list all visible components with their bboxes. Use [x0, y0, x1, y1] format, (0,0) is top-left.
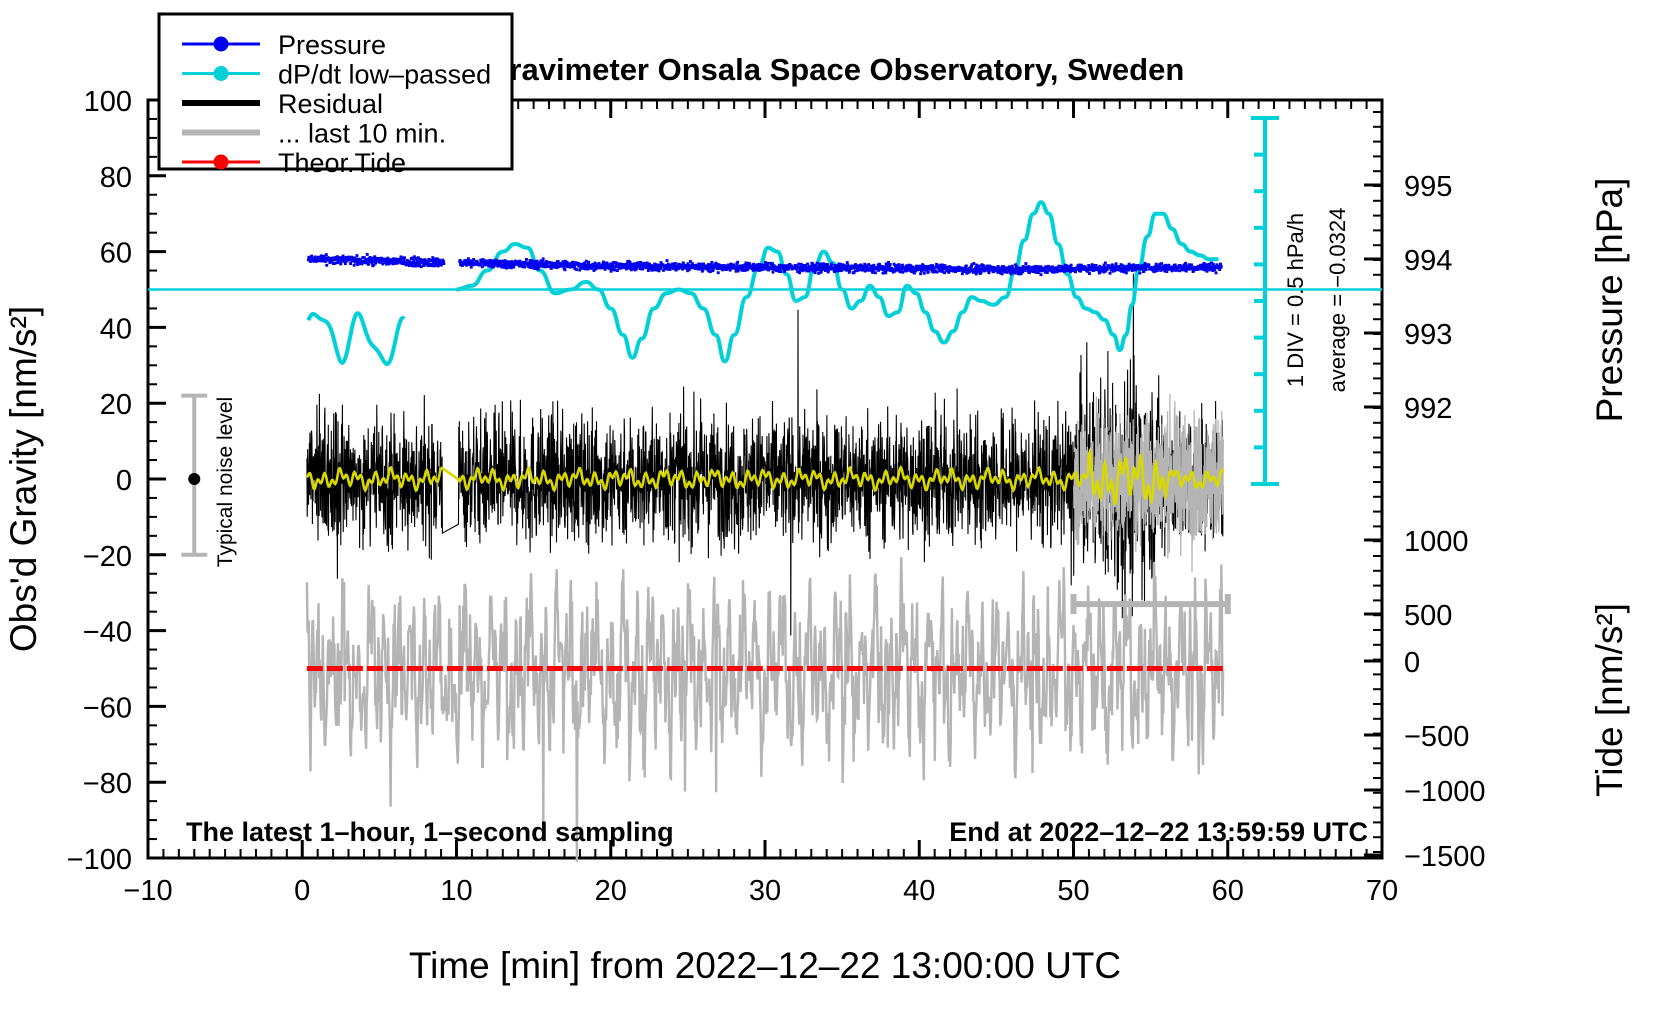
pressure-point	[523, 266, 526, 269]
pressure-point	[344, 262, 347, 265]
legend-marker-0	[214, 37, 229, 52]
pressure-point	[420, 265, 423, 268]
pressure-point	[830, 262, 833, 265]
pressure-point	[542, 257, 545, 260]
pressure-point	[884, 271, 887, 274]
y-axis-title-pressure: Pressure [hPa]	[1589, 178, 1630, 423]
pressure-point	[972, 262, 975, 265]
legend: PressuredP/dt low–passedResidual... last…	[159, 14, 512, 178]
tide-tick-label: 500	[1404, 600, 1452, 632]
pressure-point	[1001, 272, 1004, 275]
y-tick-label: −40	[83, 617, 132, 649]
pressure-point	[1220, 265, 1223, 268]
pressure-point	[736, 261, 739, 264]
legend-label-4: Theor.Tide	[278, 148, 406, 178]
x-tick-label: 60	[1212, 875, 1244, 907]
y-tick-label: 60	[100, 238, 132, 270]
pressure-point	[1095, 264, 1098, 267]
pressure-point	[1206, 270, 1209, 273]
y-tick-label: 0	[116, 465, 132, 497]
x-tick-label: 20	[595, 875, 627, 907]
pressure-tick-label: 992	[1404, 393, 1452, 425]
pressure-tick-label: 993	[1404, 319, 1452, 351]
pressure-point	[340, 262, 343, 265]
pressure-point	[965, 265, 968, 268]
pressure-point	[472, 258, 475, 261]
pressure-point	[1138, 272, 1141, 275]
pressure-point	[525, 258, 528, 261]
x-axis-title: Time [min] from 2022–12–22 13:00:00 UTC	[409, 945, 1121, 986]
pressure-tick-label: 995	[1404, 171, 1452, 203]
pressure-point	[1040, 273, 1043, 276]
pressure-point	[325, 253, 328, 256]
pressure-point	[1011, 265, 1014, 268]
pressure-point	[901, 264, 904, 267]
pressure-point	[356, 254, 359, 257]
pressure-point	[353, 264, 356, 267]
x-tick-label: −10	[123, 875, 172, 907]
pressure-point	[537, 268, 540, 271]
pressure-tick-label: 994	[1404, 245, 1452, 277]
pressure-point	[1088, 272, 1091, 275]
x-tick-label: 30	[749, 875, 781, 907]
y-tick-label: −80	[83, 768, 132, 800]
pressure-point	[366, 253, 369, 256]
tide-tick-label: 1000	[1404, 526, 1469, 558]
pressure-scale-note: 1 DIV = 0.5 hPa/h	[1283, 213, 1308, 387]
pressure-point	[1115, 262, 1118, 265]
legend-marker-4	[214, 155, 229, 170]
pressure-average-note: average = −0.0324	[1325, 208, 1350, 393]
pressure-point	[1184, 262, 1187, 265]
pressure-point	[587, 261, 590, 264]
pressure-point	[1215, 271, 1218, 274]
pressure-point	[717, 271, 720, 274]
tide-tick-label: −1500	[1404, 841, 1485, 873]
pressure-point	[1070, 264, 1073, 267]
pressure-point	[367, 263, 370, 266]
x-tick-label: 40	[903, 875, 935, 907]
pressure-point	[923, 272, 926, 275]
pressure-point	[666, 259, 669, 262]
pressure-point	[598, 262, 601, 265]
pressure-point	[1109, 272, 1112, 275]
x-tick-label: 0	[294, 875, 310, 907]
pressure-point	[1010, 272, 1013, 275]
pressure-point	[575, 268, 578, 271]
x-tick-label: 10	[440, 875, 472, 907]
y-tick-label: 80	[100, 162, 132, 194]
pressure-point	[988, 271, 991, 274]
pressure-point	[780, 270, 783, 273]
pressure-point	[846, 261, 849, 264]
pressure-point	[814, 271, 817, 274]
noise-level-label: Typical noise level	[214, 397, 237, 567]
legend-label-1: dP/dt low–passed	[278, 60, 491, 90]
legend-marker-1	[214, 66, 229, 81]
legend-label-2: Residual	[278, 89, 383, 119]
pressure-point	[867, 263, 870, 266]
noise-level-center-dot	[188, 473, 200, 485]
pressure-point	[980, 271, 983, 274]
pressure-point	[1104, 262, 1107, 265]
gravimeter-timeseries-chart: −10010203040506070 100806040200−20−40−60…	[0, 0, 1660, 1020]
pressure-point	[772, 271, 775, 274]
legend-label-0: Pressure	[278, 30, 386, 60]
pressure-point	[1145, 268, 1148, 271]
pressure-point	[325, 264, 328, 267]
dpdt-trace-segment-1	[308, 313, 404, 364]
x-tick-label: 50	[1057, 875, 1089, 907]
footer-left-note: The latest 1–hour, 1–second sampling	[186, 817, 674, 847]
y-tick-label: −60	[83, 692, 132, 724]
pressure-point	[334, 262, 337, 265]
pressure-point	[889, 263, 892, 266]
legend-label-3: ... last 10 min.	[278, 119, 446, 149]
pressure-point	[674, 262, 677, 265]
pressure-point	[897, 263, 900, 266]
pressure-point	[927, 271, 930, 274]
y-tick-label: −100	[67, 844, 132, 876]
pressure-point	[806, 263, 809, 266]
pressure-point	[641, 268, 644, 271]
pressure-point	[919, 272, 922, 275]
data-traces	[148, 202, 1382, 862]
x-tick-label: 70	[1366, 875, 1398, 907]
y-axis-title-tide: Tide [nm/s²]	[1589, 603, 1630, 797]
pressure-point	[766, 262, 769, 265]
pressure-point	[1024, 262, 1027, 265]
chart-canvas: −10010203040506070 100806040200−20−40−60…	[0, 0, 1660, 1020]
pressure-point	[564, 268, 567, 271]
y-axis-gravity: 100806040200−20−40−60−80−100	[67, 86, 166, 876]
y-tick-label: 20	[100, 389, 132, 421]
y-tick-label: 100	[84, 86, 132, 118]
tide-tick-label: −1000	[1404, 776, 1485, 808]
y-axis-title: Obs'd Gravity [nm/s²]	[3, 306, 44, 652]
tide-tick-label: 0	[1404, 647, 1420, 679]
pressure-point	[442, 262, 445, 265]
pressure-point	[403, 256, 406, 259]
pressure-point	[874, 271, 877, 274]
y-tick-label: −20	[83, 541, 132, 573]
dpdt-trace-segment-2	[457, 202, 1219, 361]
pressure-point	[1125, 271, 1128, 274]
y-tick-label: 40	[100, 313, 132, 345]
footer-right-note: End at 2022–12–22 13:59:59 UTC	[949, 817, 1368, 847]
tide-tick-label: −500	[1404, 721, 1469, 753]
pressure-point	[798, 271, 801, 274]
